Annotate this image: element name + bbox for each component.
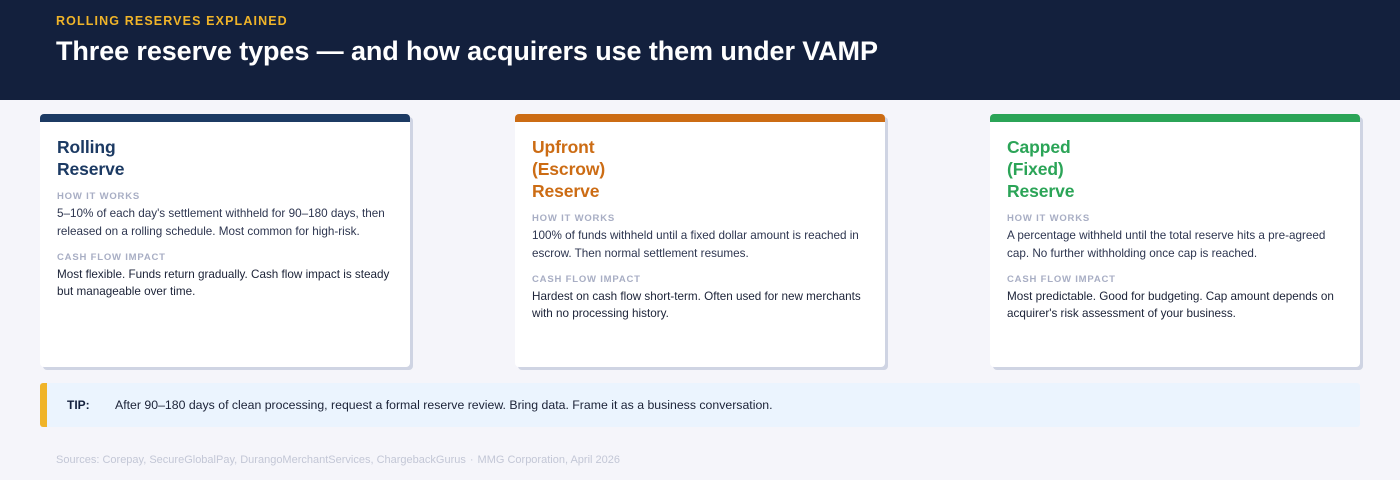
section-body: 5–10% of each day's settlement withheld … xyxy=(57,205,396,241)
section-label: CASH FLOW IMPACT xyxy=(1007,274,1346,285)
tip-label: TIP: xyxy=(67,398,90,412)
card-section-cash-flow-impact: CASH FLOW IMPACT Most flexible. Funds re… xyxy=(57,252,396,302)
card-section-cash-flow-impact: CASH FLOW IMPACT Hardest on cash flow sh… xyxy=(532,274,871,324)
card-section-cash-flow-impact: CASH FLOW IMPACT Most predictable. Good … xyxy=(1007,274,1346,324)
card-accent-bar xyxy=(40,114,410,122)
card-title: Rolling Reserve xyxy=(57,122,396,180)
reserve-cards-row: Rolling Reserve HOW IT WORKS 5–10% of ea… xyxy=(40,114,1360,369)
tip-callout: TIP: After 90–180 days of clean processi… xyxy=(40,383,1360,427)
section-body: A percentage withheld until the total re… xyxy=(1007,227,1346,263)
footer-sources: Sources: Corepay, SecureGlobalPay, Duran… xyxy=(56,454,620,466)
card-section-how-it-works: HOW IT WORKS A percentage withheld until… xyxy=(1007,213,1346,263)
card-title: Upfront (Escrow) Reserve xyxy=(532,122,871,202)
reserve-card-capped-fixed: Capped (Fixed) Reserve HOW IT WORKS A pe… xyxy=(990,114,1360,367)
card-accent-bar xyxy=(515,114,885,122)
reserve-card-upfront-escrow: Upfront (Escrow) Reserve HOW IT WORKS 10… xyxy=(515,114,885,367)
section-label: HOW IT WORKS xyxy=(1007,213,1346,224)
infographic-page: ROLLING RESERVES EXPLAINED Three reserve… xyxy=(0,0,1400,480)
section-body: 100% of funds withheld until a fixed dol… xyxy=(532,227,871,263)
section-label: CASH FLOW IMPACT xyxy=(532,274,871,285)
section-body: Most predictable. Good for budgeting. Ca… xyxy=(1007,288,1346,324)
section-body: Most flexible. Funds return gradually. C… xyxy=(57,266,396,302)
tip-text: After 90–180 days of clean processing, r… xyxy=(115,398,773,412)
card-accent-bar xyxy=(990,114,1360,122)
card-title: Capped (Fixed) Reserve xyxy=(1007,122,1346,202)
page-header: ROLLING RESERVES EXPLAINED Three reserve… xyxy=(0,0,1400,100)
footer-separator: · xyxy=(466,454,478,466)
tip-accent-bar xyxy=(40,383,47,427)
section-label: CASH FLOW IMPACT xyxy=(57,252,396,263)
footer-attribution: MMG Corporation, April 2026 xyxy=(478,454,620,466)
card-section-how-it-works: HOW IT WORKS 5–10% of each day's settlem… xyxy=(57,191,396,241)
reserve-card-rolling: Rolling Reserve HOW IT WORKS 5–10% of ea… xyxy=(40,114,410,367)
page-title: Three reserve types — and how acquirers … xyxy=(56,36,878,67)
section-label: HOW IT WORKS xyxy=(532,213,871,224)
section-body: Hardest on cash flow short-term. Often u… xyxy=(532,288,871,324)
card-section-how-it-works: HOW IT WORKS 100% of funds withheld unti… xyxy=(532,213,871,263)
footer-sources-text: Sources: Corepay, SecureGlobalPay, Duran… xyxy=(56,454,466,466)
header-eyebrow: ROLLING RESERVES EXPLAINED xyxy=(56,14,288,28)
section-label: HOW IT WORKS xyxy=(57,191,396,202)
